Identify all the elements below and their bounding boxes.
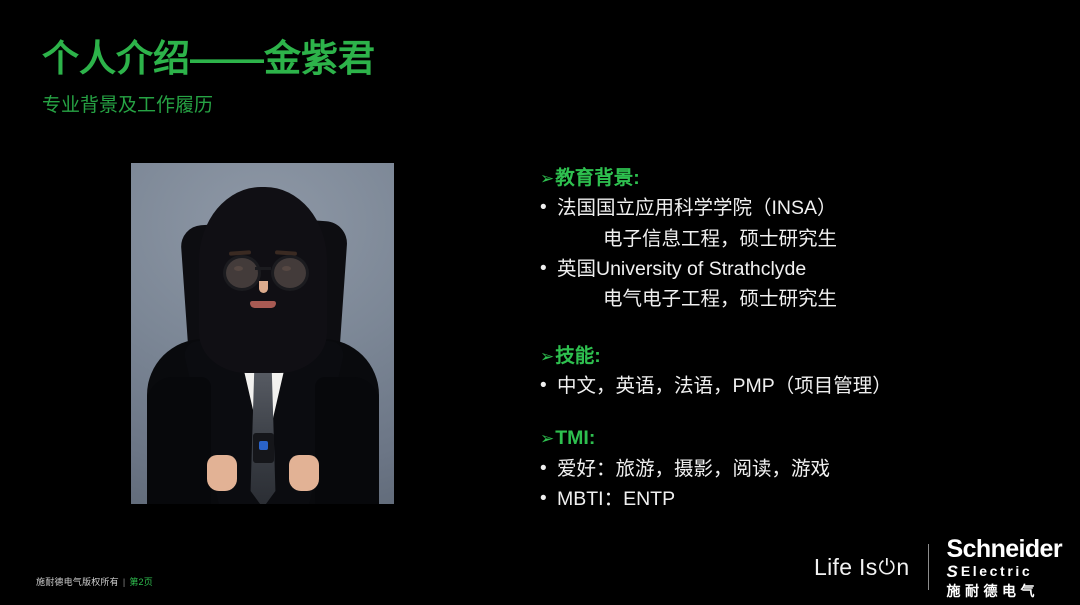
slide-canvas: 个人介绍——金紫君 专业背景及工作履历 bbox=[0, 0, 1080, 605]
section-education: ➢教育背景: • 法国国立应用科学学院（INSA） 电子信息工程，硕士研究生 •… bbox=[540, 163, 1050, 315]
tagline-text-post: n bbox=[896, 554, 909, 581]
photo-glasses-right bbox=[271, 255, 309, 291]
photo-arm-left bbox=[147, 377, 211, 504]
footer-copyright-label: 施耐德电气版权所有 bbox=[36, 577, 119, 587]
bullet-dot-icon: • bbox=[540, 371, 557, 401]
list-item-label: 爱好：旅游，摄影，阅读，游戏 bbox=[557, 454, 830, 484]
section-gap bbox=[540, 315, 1050, 341]
bullet-dot-icon: • bbox=[540, 254, 557, 284]
content-column: ➢教育背景: • 法国国立应用科学学院（INSA） 电子信息工程，硕士研究生 •… bbox=[540, 163, 1050, 515]
section-heading-tmi: ➢TMI: bbox=[540, 423, 1050, 453]
list-item-label: 中文，英语，法语，PMP（项目管理） bbox=[557, 371, 892, 401]
section-heading-label: 技能: bbox=[555, 345, 601, 367]
power-icon: ⏻ bbox=[879, 556, 896, 580]
page-subtitle: 专业背景及工作履历 bbox=[42, 95, 642, 118]
list-item: • 爱好：旅游，摄影，阅读，游戏 bbox=[540, 454, 1050, 484]
list-item: • 法国国立应用科学学院（INSA） bbox=[540, 193, 1050, 223]
arrow-bullet-icon: ➢ bbox=[540, 344, 554, 370]
section-gap bbox=[540, 401, 1050, 423]
portrait-photo bbox=[131, 163, 394, 504]
list-item-label: 法国国立应用科学学院（INSA） bbox=[557, 193, 837, 223]
footer-copyright: 施耐德电气版权所有|第2页 bbox=[36, 575, 153, 588]
list-item: • 中文，英语，法语，PMP（项目管理） bbox=[540, 371, 1050, 401]
logo-word-electric: Electric bbox=[961, 564, 1032, 578]
logo-chinese-name: 施耐德电气 bbox=[947, 584, 1062, 598]
list-item-subline: 电气电子工程，硕士研究生 bbox=[540, 284, 1050, 314]
list-item: • 英国University of Strathclyde bbox=[540, 254, 1050, 284]
section-heading-label: 教育背景: bbox=[555, 167, 640, 189]
section-heading-skills: ➢技能: bbox=[540, 341, 1050, 371]
section-heading-label: TMI: bbox=[555, 427, 595, 449]
page-title: 个人介绍——金紫君 bbox=[42, 38, 642, 81]
portrait-photo-image bbox=[131, 163, 394, 504]
photo-glasses-left bbox=[223, 255, 261, 291]
title-block: 个人介绍——金紫君 专业背景及工作履历 bbox=[42, 38, 642, 117]
photo-arm-right bbox=[315, 377, 379, 504]
photo-mouth bbox=[250, 301, 276, 308]
photo-hand-left bbox=[207, 455, 237, 491]
brand-area: Life Is ⏻n Schneider S Electric 施耐德电气 bbox=[814, 541, 1062, 593]
section-heading-education: ➢教育背景: bbox=[540, 163, 1050, 193]
schneider-electric-logo: Schneider S Electric 施耐德电气 bbox=[929, 537, 1062, 598]
list-item: • MBTI：ENTP bbox=[540, 484, 1050, 514]
schneider-s-mark-icon: S bbox=[947, 563, 958, 580]
section-tmi: ➢TMI: • 爱好：旅游，摄影，阅读，游戏 • MBTI：ENTP bbox=[540, 423, 1050, 514]
footer-separator: | bbox=[123, 577, 126, 587]
logo-word-schneider: Schneider bbox=[947, 537, 1062, 562]
life-is-on-tagline: Life Is ⏻n bbox=[814, 554, 927, 581]
section-skills: ➢技能: • 中文，英语，法语，PMP（项目管理） bbox=[540, 341, 1050, 402]
photo-badge-dot bbox=[259, 441, 268, 450]
bullet-dot-icon: • bbox=[540, 193, 557, 223]
photo-hand-right bbox=[289, 455, 319, 491]
list-item-label: 英国University of Strathclyde bbox=[557, 254, 806, 284]
photo-nose bbox=[259, 281, 268, 293]
bullet-dot-icon: • bbox=[540, 454, 557, 484]
photo-glasses-bridge bbox=[255, 267, 271, 270]
arrow-bullet-icon: ➢ bbox=[540, 426, 554, 452]
logo-second-row: S Electric bbox=[947, 563, 1062, 580]
bullet-dot-icon: • bbox=[540, 484, 557, 514]
list-item-label: MBTI：ENTP bbox=[557, 484, 675, 514]
tagline-text-pre: Life Is bbox=[814, 554, 877, 581]
page-number: 第2页 bbox=[129, 577, 153, 587]
arrow-bullet-icon: ➢ bbox=[540, 166, 554, 192]
list-item-subline: 电子信息工程，硕士研究生 bbox=[540, 224, 1050, 254]
